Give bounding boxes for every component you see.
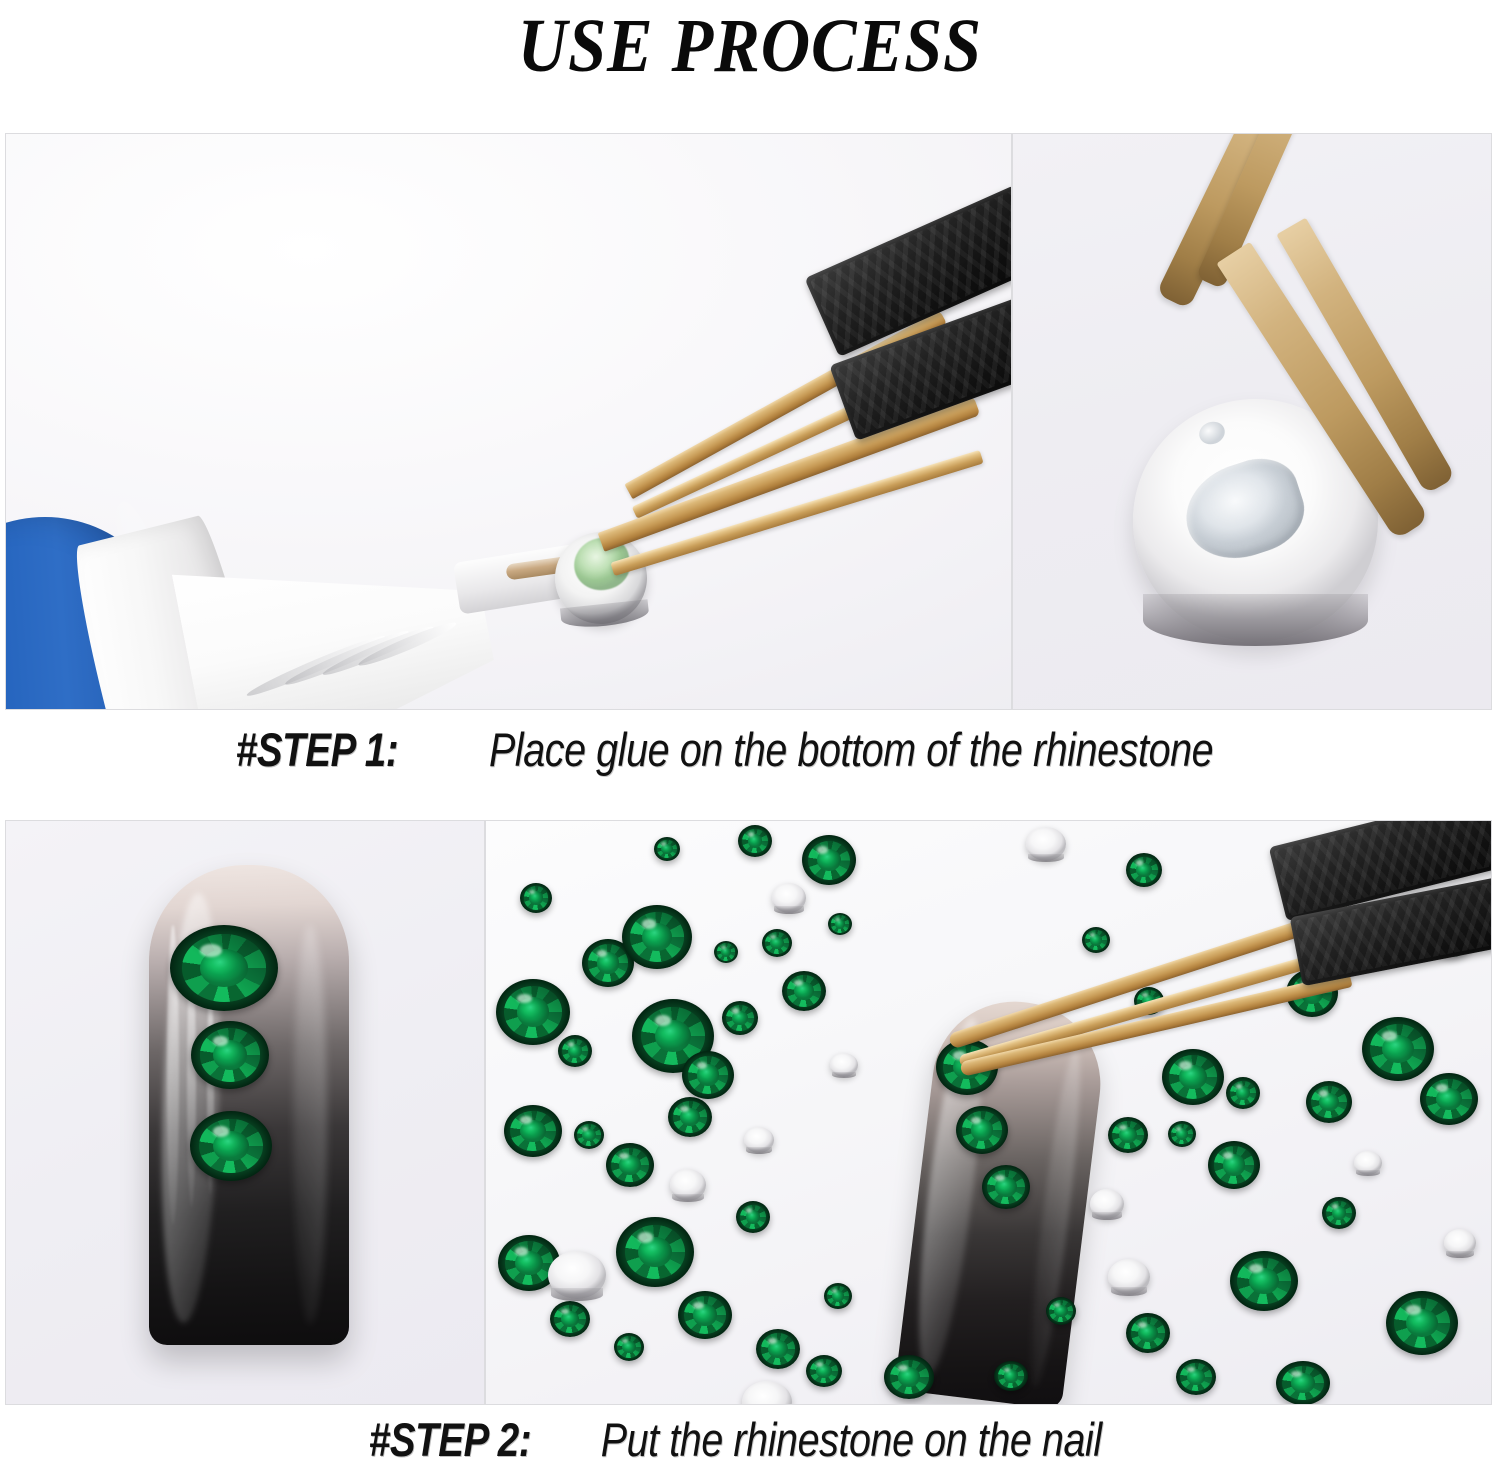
scattered-rhinestone (520, 883, 552, 913)
placed-rhinestone (956, 1106, 1008, 1154)
scattered-rhinestone (806, 1355, 842, 1387)
scattered-rhinestone (1046, 1297, 1076, 1325)
scattered-rhinestone (622, 905, 692, 969)
scattered-rhinestone (1420, 1073, 1478, 1125)
scattered-rhinestone (722, 1001, 758, 1035)
page-title-bar: USE PROCESS (0, 0, 1500, 92)
scattered-rhinestone (1306, 1081, 1352, 1123)
scattered-rhinestone (736, 1201, 770, 1233)
scattered-rhinestone (1126, 853, 1162, 887)
gold-tweezers (6, 134, 1012, 710)
scattered-rhinestone (496, 979, 570, 1045)
scattered-rhinestone (668, 1097, 712, 1137)
scattered-rhinestone (616, 1217, 694, 1287)
scattered-rhinestone-back (1026, 827, 1066, 861)
nail-rhinestone-small (190, 1111, 272, 1181)
gem-shadow (200, 1028, 261, 1081)
scattered-rhinestone (558, 1035, 592, 1067)
scattered-rhinestone-back (830, 1053, 858, 1077)
scattered-rhinestone (1162, 1049, 1224, 1105)
scattered-rhinestone (1208, 1141, 1260, 1189)
scattered-rhinestone (1168, 1121, 1196, 1147)
scattered-rhinestone (682, 1051, 734, 1099)
scattered-rhinestone (1126, 1313, 1170, 1353)
scattered-rhinestone (550, 1301, 590, 1337)
scattered-rhinestone (1082, 927, 1110, 953)
scattered-rhinestone (1322, 1197, 1356, 1229)
scattered-rhinestone (824, 1283, 852, 1309)
placed-rhinestone (982, 1165, 1030, 1209)
scattered-rhinestone (782, 971, 826, 1011)
scattered-rhinestone (714, 941, 738, 963)
scattered-rhinestone-back (1444, 1229, 1476, 1257)
rhinestone-closeup-photo (1012, 133, 1492, 710)
gem-shadow (199, 1119, 263, 1174)
gem-sparkle (213, 1126, 229, 1137)
scattered-rhinestone-back (1108, 1259, 1150, 1295)
scattered-rhinestone (802, 835, 856, 885)
step-2-description: Put the rhinestone on the nail (601, 1412, 1102, 1467)
glue-application-photo (5, 133, 1012, 710)
scattered-rhinestone (606, 1143, 654, 1187)
gem-shadow (962, 1111, 1003, 1148)
gem-sparkle (971, 1117, 981, 1124)
scattered-rhinestone (1176, 1359, 1216, 1395)
step-2-photo-row (5, 820, 1492, 1405)
scattered-rhinestone-back (772, 883, 806, 913)
nail-rhinestone-large (170, 925, 278, 1011)
scattered-rhinestone (1230, 1251, 1298, 1311)
scattered-rhinestone (884, 1355, 934, 1399)
step-1-label: #STEP 1: (236, 722, 398, 777)
scattered-rhinestone (1276, 1361, 1330, 1405)
scattered-rhinestone (1226, 1077, 1260, 1109)
scattered-rhinestone (504, 1105, 562, 1157)
scattered-rhinestone (762, 929, 792, 957)
page-title: USE PROCESS (518, 8, 982, 84)
gem-shadow (182, 934, 266, 1001)
scattered-rhinestone (654, 837, 680, 861)
nail-rhinestone-medium (191, 1021, 269, 1089)
scattered-rhinestone-back (670, 1169, 706, 1201)
step-1-caption: #STEP 1: Place glue on the bottom of the… (0, 722, 1500, 777)
step-1-photo-row (5, 133, 1492, 710)
scattered-rhinestone (678, 1291, 732, 1339)
scattered-rhinestone (1108, 1117, 1148, 1153)
finished-nail-photo (5, 820, 485, 1405)
gem-sparkle (200, 944, 222, 957)
scattered-rhinestone (738, 825, 772, 857)
scattered-rhinestone (614, 1333, 644, 1361)
scattered-rhinestone-back (548, 1251, 606, 1299)
scattered-rhinestone-back (744, 1127, 774, 1153)
scattered-rhinestone-back (1090, 1189, 1124, 1219)
scattered-rhinestone (1386, 1291, 1458, 1355)
step-1-description: Place glue on the bottom of the rhinesto… (489, 722, 1213, 777)
gem-shadow (987, 1170, 1024, 1204)
scattered-rhinestone (574, 1121, 604, 1149)
scattered-rhinestone (756, 1329, 800, 1369)
step-2-caption: #STEP 2: Put the rhinestone on the nail (0, 1412, 1500, 1467)
scattered-rhinestone-back (1354, 1151, 1382, 1175)
scattered-rhinestone (994, 1361, 1028, 1391)
rhinestone-scatter-photo (485, 820, 1492, 1405)
scattered-rhinestone (1362, 1017, 1434, 1081)
step-2-label: #STEP 2: (368, 1412, 530, 1467)
scattered-rhinestone (828, 913, 852, 935)
